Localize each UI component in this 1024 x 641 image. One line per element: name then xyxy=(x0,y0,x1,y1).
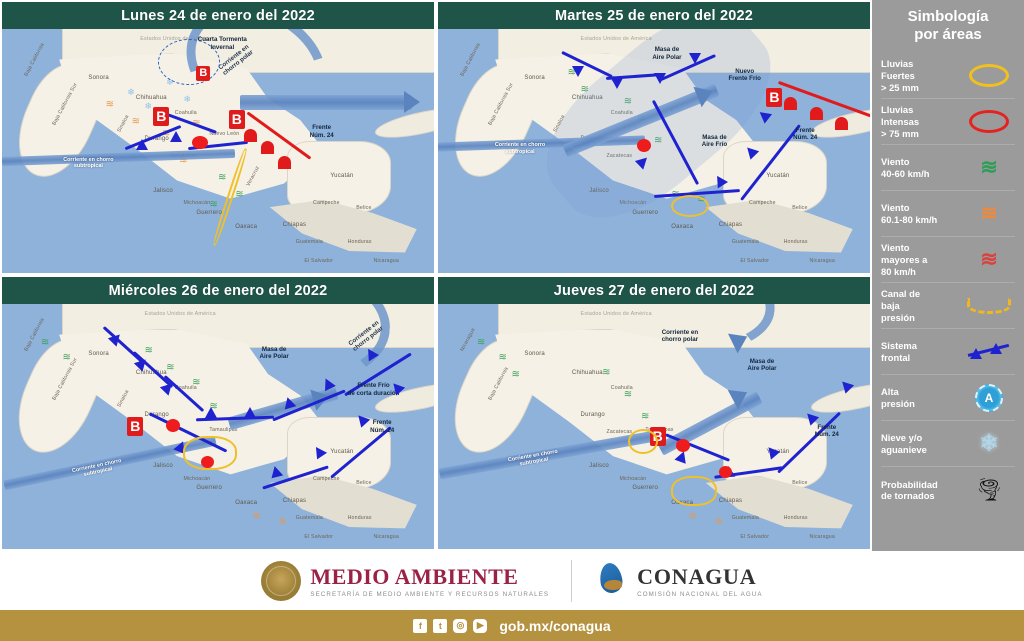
panel-wednesday: Miércoles 26 de enero del 2022 Estados U… xyxy=(0,275,436,551)
label-baja-california: Baja California xyxy=(23,42,46,77)
low-pressure-marker: B xyxy=(766,88,782,107)
wind-green-icon: ≋ xyxy=(62,353,70,363)
snowflake-icon: ❄ xyxy=(145,102,153,111)
legend-item-sistema-frontal: Sistema frontal xyxy=(881,329,1015,375)
legend-label: Viento mayores a 80 km/h xyxy=(881,242,959,277)
panel-thursday: Jueves 27 de enero del 2022 Estados Unid… xyxy=(436,275,872,551)
panel-tuesday: Martes 25 de enero del 2022 Estados Unid… xyxy=(436,0,872,275)
wind-orange-icon: ≋ xyxy=(689,512,697,522)
legend-label: Lluvias Intensas > 75 mm xyxy=(881,104,959,139)
legend-item-viento-mayores-80: Viento mayores a 80 km/h ≋ xyxy=(881,237,1015,283)
ministry-subtitle: SECRETARÍA DE MEDIO AMBIENTE Y RECURSOS … xyxy=(310,591,549,598)
heavy-rain-ellipse xyxy=(671,476,717,506)
legend-label: Lluvias Fuertes > 25 mm xyxy=(881,58,959,93)
wind-green-icon: ≋ xyxy=(166,363,174,373)
high-pressure-icon: A xyxy=(963,380,1015,416)
map-monday: Estados Unidos de América Baja Californi… xyxy=(2,29,434,273)
legend-item-viento-40-60: Viento 40-60 km/h ≋ xyxy=(881,145,1015,191)
wind-green-icon: ≋ xyxy=(602,368,610,378)
label-el-salvador: El Salvador xyxy=(740,258,769,264)
wind-green-icon: ≋ xyxy=(477,338,485,348)
wind-orange-icon: ≋ xyxy=(106,100,114,110)
snowflake-icon: ❄ xyxy=(183,95,191,104)
panel-tuesday-title: Martes 25 de enero del 2022 xyxy=(438,2,870,29)
wind-green-icon: ≋ xyxy=(498,353,506,363)
wind-orange-icon: ≋ xyxy=(714,517,722,527)
cold-front-triangle xyxy=(756,107,772,123)
label-oaxaca: Oaxaca xyxy=(235,500,257,506)
snowflake-icon: ❄ xyxy=(127,88,135,97)
weather-forecast-infographic: Lunes 24 de enero del 2022 Estados Unido… xyxy=(0,0,1024,641)
wind-green-icon: ≋ xyxy=(218,173,226,183)
ministry-title: MEDIO AMBIENTE xyxy=(310,564,549,590)
tornado-icon: 🌪 xyxy=(963,472,1015,508)
wind-orange-icon: ≋ xyxy=(132,117,140,127)
maps-grid: Lunes 24 de enero del 2022 Estados Unido… xyxy=(0,0,872,551)
wind-green-icon: ≋ xyxy=(963,150,1015,186)
cold-front-triangle xyxy=(136,139,148,150)
legend-label: Sistema frontal xyxy=(881,340,959,364)
bottom-bar: f t ◎ ▶ gob.mx/conagua xyxy=(0,610,1024,641)
cold-front-triangle xyxy=(572,66,584,77)
label-nicaragua: Nicaragua xyxy=(374,534,399,540)
label-guatemala: Guatemala xyxy=(732,515,759,521)
label-frente-num-24: Frente Núm. 24 xyxy=(758,127,853,142)
label-jalisco: Jalisco xyxy=(589,463,609,469)
label-guatemala: Guatemala xyxy=(732,239,759,245)
map-tuesday: Estados Unidos de América Baja Californi… xyxy=(438,29,870,273)
label-corriente-chorro-polar: Corriente en chorro polar xyxy=(628,329,732,344)
facebook-icon[interactable]: f xyxy=(413,619,427,633)
landmass-central-america xyxy=(270,476,417,550)
mexico-coat-of-arms-icon xyxy=(261,561,301,601)
legend-label: Viento 40-60 km/h xyxy=(881,156,959,180)
cold-front-triangle xyxy=(269,464,283,478)
label-masa-aire-polar: Masa de Aire Polar xyxy=(714,358,809,373)
warm-front-semicircle xyxy=(244,129,257,142)
instagram-icon[interactable]: ◎ xyxy=(453,619,467,633)
cold-front-triangle xyxy=(244,407,256,418)
low-pressure-marker: B xyxy=(196,66,210,81)
heavy-rain-ellipse xyxy=(628,429,658,454)
legend-label: Probabilidad de tornados xyxy=(881,479,959,503)
panel-thursday-title: Jueves 27 de enero del 2022 xyxy=(438,277,870,304)
label-guerrero: Guerrero xyxy=(632,210,658,216)
warm-front-semicircle xyxy=(261,141,274,154)
agency-title: CONAGUA xyxy=(637,564,762,590)
legend-item-alta-presion: Alta presión A xyxy=(881,375,1015,421)
legend-label: Viento 60.1-80 km/h xyxy=(881,202,959,226)
cold-front-triangle xyxy=(611,78,623,89)
low-pressure-marker: B xyxy=(127,417,143,436)
wind-green-icon: ≋ xyxy=(192,378,200,388)
label-guerrero: Guerrero xyxy=(196,210,222,216)
footer-branding: MEDIO AMBIENTE SECRETARÍA DE MEDIO AMBIE… xyxy=(0,551,1024,610)
youtube-icon[interactable]: ▶ xyxy=(473,619,487,633)
label-frente-frio-corta-duracion: Frente Frío de corta duración xyxy=(313,382,434,397)
twitter-icon[interactable]: t xyxy=(433,619,447,633)
ellipse-yellow-icon xyxy=(963,58,1015,94)
map-thursday: Estados Unidos de América Nicaragua Baja… xyxy=(438,304,870,549)
legend-label: Nieve y/o aguanieve xyxy=(881,432,959,456)
conagua-water-drop-icon xyxy=(594,561,628,601)
label-el-salvador: El Salvador xyxy=(740,534,769,540)
label-jalisco: Jalisco xyxy=(153,188,173,194)
trough-dashed-icon xyxy=(963,288,1015,324)
label-el-salvador: El Salvador xyxy=(304,534,333,540)
legend-item-lluvias-intensas: Lluvias Intensas > 75 mm xyxy=(881,99,1015,145)
label-nicaragua: Nicaragua xyxy=(810,534,835,540)
heavy-rain-ellipse xyxy=(671,195,709,217)
cold-front-triangle xyxy=(170,131,182,142)
wind-green-icon: ≋ xyxy=(235,190,243,200)
label-michoacan: Michoacán xyxy=(183,476,210,482)
legend-item-viento-60-80: Viento 60.1-80 km/h ≋ xyxy=(881,191,1015,237)
wind-green-icon: ≋ xyxy=(41,338,49,348)
panel-monday: Lunes 24 de enero del 2022 Estados Unido… xyxy=(0,0,436,275)
panel-monday-title: Lunes 24 de enero del 2022 xyxy=(2,2,434,29)
map-wednesday: Estados Unidos de América Baja Californi… xyxy=(2,304,434,549)
landmass-central-america xyxy=(270,200,417,273)
label-guatemala: Guatemala xyxy=(296,515,323,521)
website-url[interactable]: gob.mx/conagua xyxy=(499,618,610,634)
wind-orange-icon: ≋ xyxy=(253,512,261,522)
landmass-central-america xyxy=(706,200,853,273)
wind-red-icon: ≋ xyxy=(963,242,1015,278)
wind-green-icon: ≋ xyxy=(209,200,217,210)
panel-wednesday-title: Miércoles 26 de enero del 2022 xyxy=(2,277,434,304)
label-frente-num-24: Frente Núm. 24 xyxy=(339,419,425,434)
wind-green-icon: ≋ xyxy=(511,370,519,380)
label-guatemala: Guatemala xyxy=(296,239,323,245)
label-guerrero: Guerrero xyxy=(196,485,222,491)
intense-rain-blob xyxy=(676,439,690,452)
label-michoacan: Michoacán xyxy=(619,476,646,482)
label-cuarta-tormenta-invernal: Cuarta Tormenta Invernal xyxy=(149,36,296,51)
label-michoacan: Michoacán xyxy=(183,200,210,206)
ministry-brand: MEDIO AMBIENTE SECRETARÍA DE MEDIO AMBIE… xyxy=(261,561,549,601)
warm-front-semicircle xyxy=(784,97,797,110)
agency-brand: CONAGUA COMISIÓN NACIONAL DEL AGUA xyxy=(594,561,762,601)
label-oaxaca: Oaxaca xyxy=(671,224,693,230)
landmass-central-america xyxy=(706,476,853,550)
label-guerrero: Guerrero xyxy=(632,485,658,491)
wind-green-icon: ≋ xyxy=(641,412,649,422)
wind-orange-icon: ≋ xyxy=(963,196,1015,232)
label-masa-aire-polar: Masa de Aire Polar xyxy=(619,46,714,61)
label-corriente-chorro-subtropical: Corriente en chorro subtropical xyxy=(28,157,149,169)
cold-front-triangle xyxy=(654,73,666,84)
ellipse-red-icon xyxy=(963,104,1015,140)
label-jalisco: Jalisco xyxy=(153,463,173,469)
warm-front-semicircle xyxy=(278,156,291,169)
intense-rain-blob xyxy=(719,466,732,478)
label-frente-num-24: Frente Núm. 24 xyxy=(784,424,870,439)
label-oaxaca: Oaxaca xyxy=(235,224,257,230)
wind-orange-icon: ≋ xyxy=(278,517,286,527)
legend-title: Simbología por áreas xyxy=(881,8,1015,43)
low-pressure-marker: B xyxy=(229,110,245,129)
label-nicaragua: Nicaragua xyxy=(810,258,835,264)
warm-front-semicircle xyxy=(810,107,823,120)
legend-item-nieve-aguanieve: Nieve y/o aguanieve ❄ xyxy=(881,421,1015,467)
brand-divider xyxy=(571,560,572,602)
polar-jet-arrow xyxy=(404,91,420,113)
label-el-salvador: El Salvador xyxy=(304,258,333,264)
heavy-rain-ellipse xyxy=(183,436,237,470)
cold-front-icon xyxy=(963,334,1015,370)
legend-item-lluvias-fuertes: Lluvias Fuertes > 25 mm xyxy=(881,53,1015,99)
label-frente-num-24: Frente Núm. 24 xyxy=(270,124,374,139)
wind-green-icon: ≋ xyxy=(624,390,632,400)
label-masa-aire-polar: Masa de Aire Polar xyxy=(227,346,322,361)
legend-label: Alta presión xyxy=(881,386,959,410)
label-baja-california: Nicaragua xyxy=(459,327,476,352)
label-baja-california: Baja California xyxy=(459,42,482,77)
legend-label: Canal de baja presión xyxy=(881,288,959,323)
wind-green-icon: ≋ xyxy=(145,346,153,356)
label-nicaragua: Nicaragua xyxy=(374,258,399,264)
cold-front-triangle xyxy=(205,407,217,418)
intense-rain-blob xyxy=(637,139,651,152)
legend-item-canal-baja-presion: Canal de baja presión xyxy=(881,283,1015,329)
legend-item-probabilidad-tornados: Probabilidad de tornados 🌪 xyxy=(881,467,1015,513)
low-pressure-marker: B xyxy=(153,107,169,126)
snowflake-icon: ❄ xyxy=(963,426,1015,462)
legend-panel: Simbología por áreas Lluvias Fuertes > 2… xyxy=(872,0,1024,551)
agency-subtitle: COMISIÓN NACIONAL DEL AGUA xyxy=(637,591,762,598)
